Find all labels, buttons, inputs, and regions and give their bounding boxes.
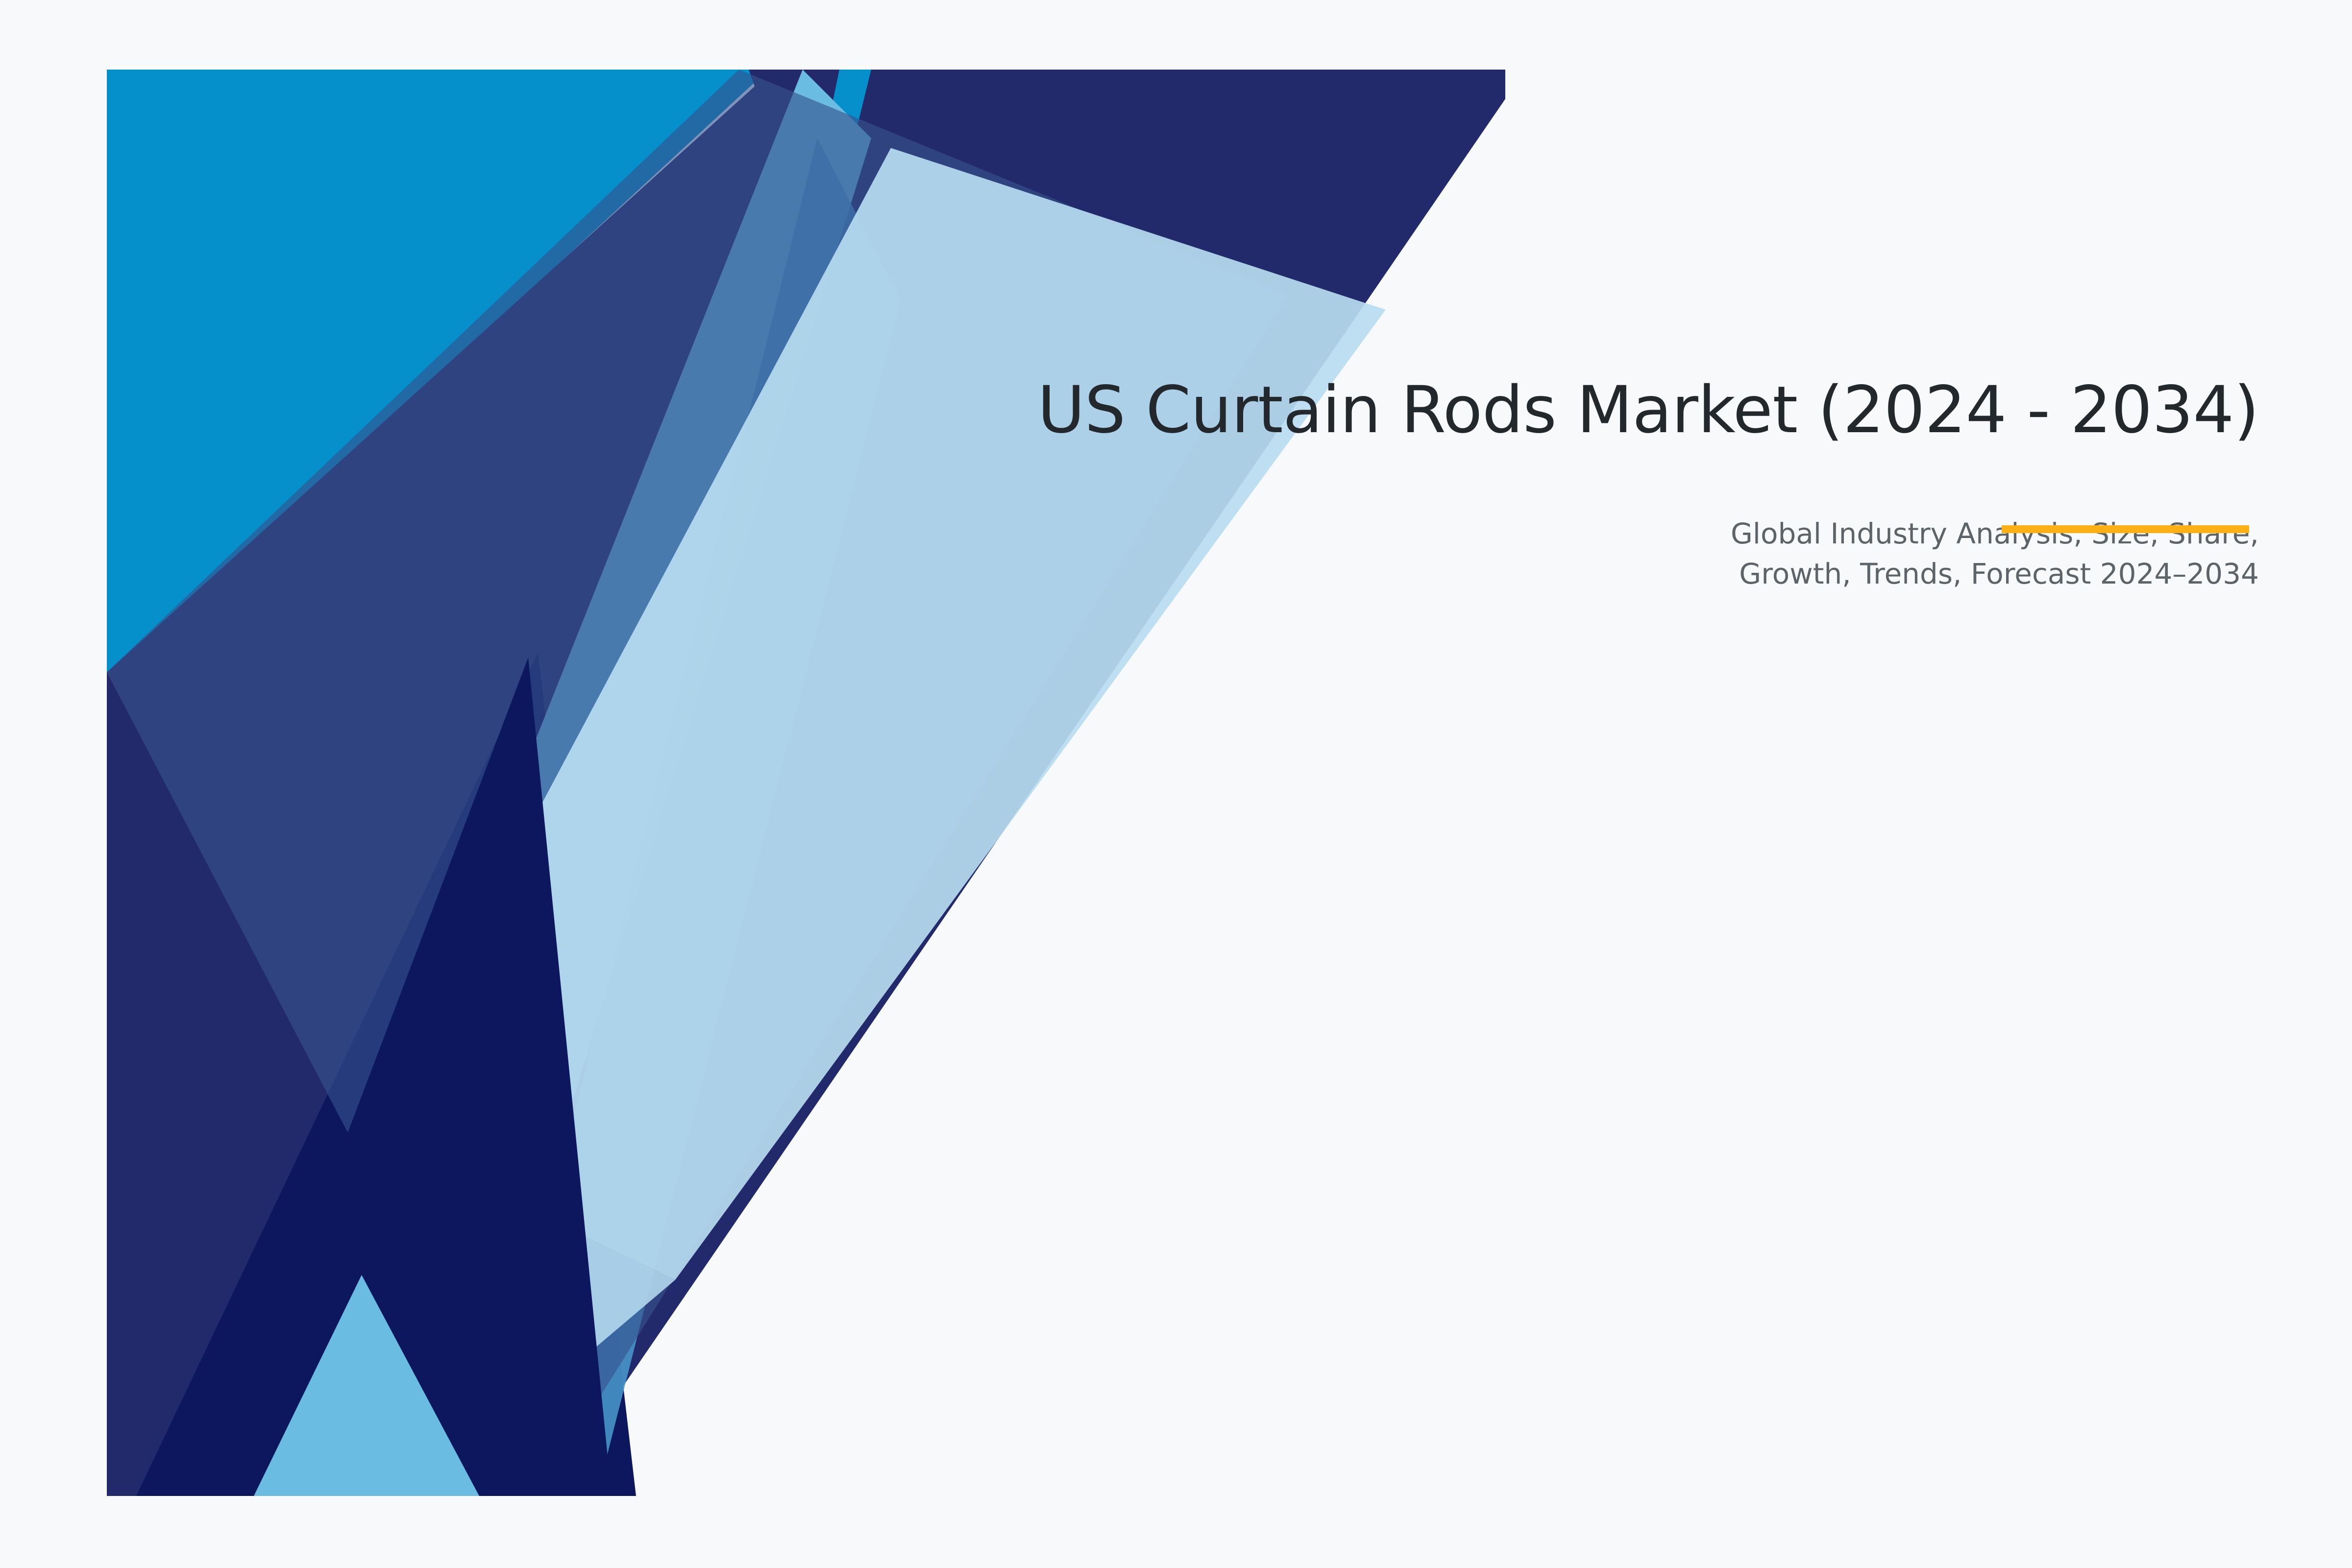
- title-text-block: US Curtain Rods Market (2024 - 2034) Glo…: [931, 372, 2259, 594]
- title-underline-accent: [2002, 525, 2249, 533]
- decorative-geometric-artwork: [107, 70, 1505, 1496]
- slide-canvas: US Curtain Rods Market (2024 - 2034) Glo…: [0, 0, 2352, 1568]
- title-wrapper: US Curtain Rods Market (2024 - 2034): [931, 372, 2259, 449]
- page-subtitle: Global Industry Analysis, Size, Share, G…: [1646, 449, 2259, 594]
- geometric-shapes-svg: [107, 70, 1505, 1496]
- page-title: US Curtain Rods Market (2024 - 2034): [931, 372, 2259, 449]
